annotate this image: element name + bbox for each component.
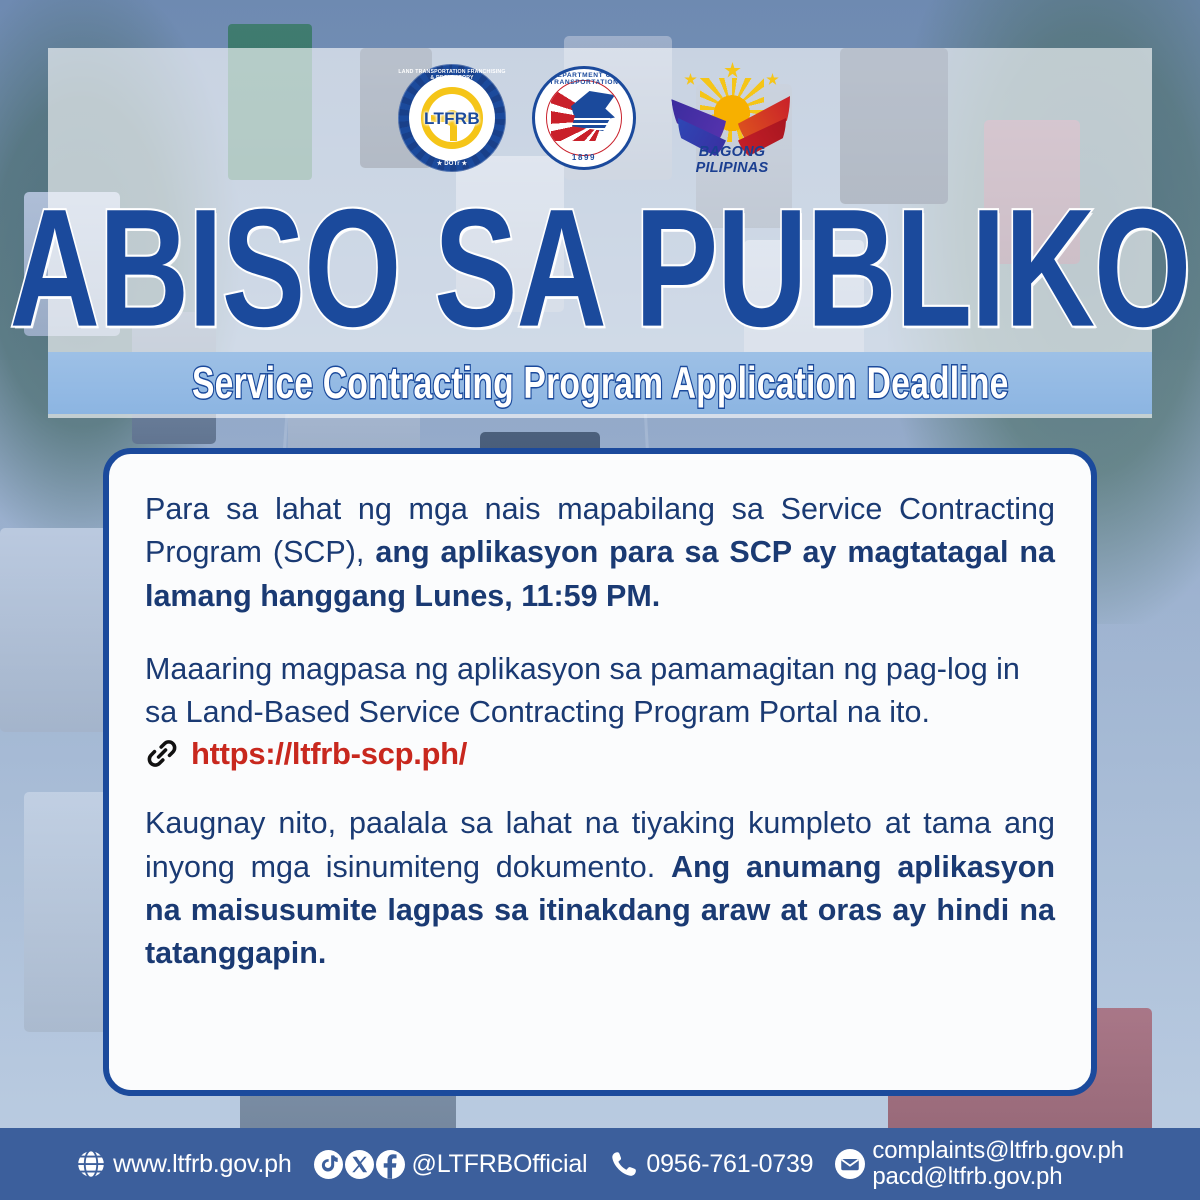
- page-title: ABISO SA PUBLIKO: [10, 185, 1191, 353]
- globe-icon: [76, 1149, 106, 1179]
- email-secondary-text: pacd@ltfrb.gov.ph: [872, 1164, 1123, 1190]
- email-lines: complaints@ltfrb.gov.ph pacd@ltfrb.gov.p…: [872, 1138, 1123, 1190]
- poster-title-wrap: ABISO SA PUBLIKO: [0, 185, 1200, 303]
- social-icons: [314, 1150, 405, 1179]
- star-icon: [724, 62, 741, 79]
- phone-text: 0956-761-0739: [646, 1150, 813, 1179]
- dotr-year-text: 1899: [535, 153, 633, 162]
- website-group[interactable]: www.ltfrb.gov.ph: [76, 1149, 291, 1179]
- x-twitter-icon[interactable]: [345, 1150, 374, 1179]
- ltfrb-logo: LAND TRANSPORTATION FRANCHISING & REGULA…: [398, 64, 506, 172]
- website-text: www.ltfrb.gov.ph: [113, 1150, 291, 1179]
- paragraph-2: Maaaring magpasa ng aplikasyon sa pamama…: [145, 648, 1055, 735]
- social-group[interactable]: @LTFRBOfficial: [314, 1150, 588, 1179]
- ltfrb-ring-bottom-text: ★ DOTr ★: [398, 160, 506, 167]
- announcement-card: Para sa lahat ng mga nais mapabilang sa …: [103, 448, 1097, 1096]
- subtitle-text: Service Contracting Program Application …: [192, 357, 1009, 408]
- email-primary-text: complaints@ltfrb.gov.ph: [872, 1138, 1123, 1164]
- social-handle-text: @LTFRBOfficial: [412, 1150, 588, 1179]
- dotr-logo: DEPARTMENT OF TRANSPORTATION 1899: [532, 66, 636, 170]
- facebook-icon[interactable]: [376, 1150, 405, 1179]
- star-icon: [684, 73, 697, 86]
- phone-group[interactable]: 0956-761-0739: [609, 1149, 813, 1179]
- envelope-icon: [835, 1149, 865, 1179]
- agency-logos-row: LAND TRANSPORTATION FRANCHISING & REGULA…: [0, 62, 1200, 174]
- phone-icon: [609, 1149, 639, 1179]
- subtitle-band: Service Contracting Program Application …: [48, 352, 1152, 414]
- tiktok-icon[interactable]: [314, 1150, 343, 1179]
- bagong-pilipinas-logo: BAGONG PILIPINAS: [662, 62, 802, 174]
- email-group[interactable]: complaints@ltfrb.gov.ph pacd@ltfrb.gov.p…: [835, 1138, 1123, 1190]
- paragraph-1: Para sa lahat ng mga nais mapabilang sa …: [145, 488, 1055, 618]
- spacer: [145, 772, 1055, 802]
- link-icon: [145, 739, 179, 769]
- star-icon: [766, 73, 779, 86]
- portal-url-row[interactable]: https://ltfrb-scp.ph/: [145, 736, 1055, 772]
- dotr-arc-text: DEPARTMENT OF TRANSPORTATION: [535, 72, 633, 86]
- contact-footer-bar: www.ltfrb.gov.ph @LTFRBOfficial 0956-761…: [0, 1128, 1200, 1200]
- ltfrb-ring-top-text: LAND TRANSPORTATION FRANCHISING & REGULA…: [398, 69, 506, 81]
- spacer: [145, 618, 1055, 648]
- bagong-pilipinas-label: BAGONG PILIPINAS: [662, 144, 802, 176]
- portal-url-text: https://ltfrb-scp.ph/: [191, 736, 467, 772]
- ltfrb-logo-label: LTFRB: [398, 109, 506, 129]
- paragraph-3: Kaugnay nito, paalala sa lahat na tiyaki…: [145, 802, 1055, 975]
- dotr-seal-inner: [546, 80, 622, 156]
